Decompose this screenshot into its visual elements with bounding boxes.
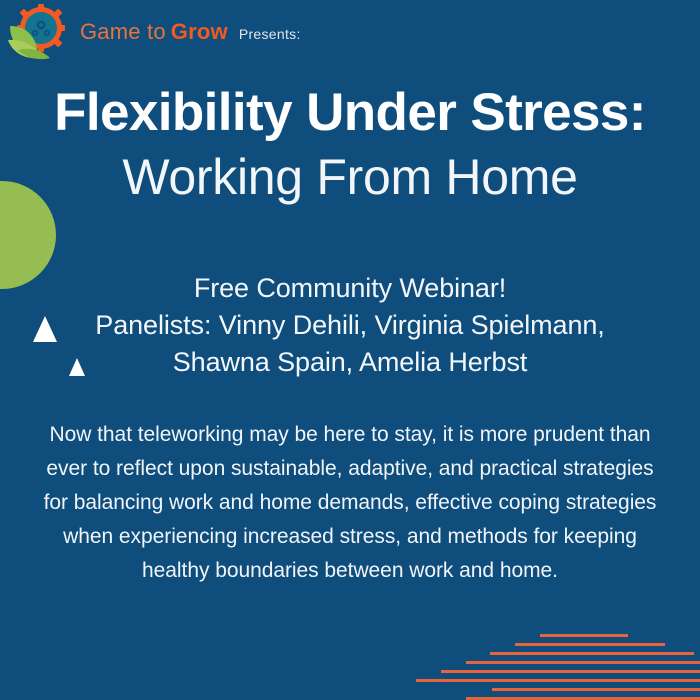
pyramid-line xyxy=(492,688,700,691)
pyramid-line xyxy=(540,634,628,637)
brand-name-part-one: Game to xyxy=(80,19,166,45)
pyramid-line xyxy=(416,679,700,682)
brand-name-part-two: Grow xyxy=(171,19,228,45)
description-paragraph: Now that teleworking may be here to stay… xyxy=(38,418,662,588)
page-title-line-1: Flexibility Under Stress: xyxy=(0,86,700,139)
orange-pyramid-decoration xyxy=(0,630,700,700)
webinar-info-block: Free Community Webinar! Panelists: Vinny… xyxy=(0,270,700,381)
pyramid-line xyxy=(441,670,700,673)
pyramid-line xyxy=(490,652,694,655)
game-to-grow-logo-icon xyxy=(8,4,76,60)
presents-label: Presents: xyxy=(239,26,301,42)
panelists-line-2: Shawna Spain, Amelia Herbst xyxy=(0,344,700,381)
pyramid-line xyxy=(515,643,665,646)
webinar-poster: Game to Grow Presents: Flexibility Under… xyxy=(0,0,700,700)
brand-header: Game to Grow Presents: xyxy=(8,4,301,60)
panelists-line-1: Panelists: Vinny Dehili, Virginia Spielm… xyxy=(0,307,700,344)
webinar-headline: Free Community Webinar! xyxy=(0,270,700,307)
page-title-line-2: Working From Home xyxy=(0,152,700,202)
brand-wordmark: Game to Grow Presents: xyxy=(80,19,301,45)
pyramid-line xyxy=(466,661,700,664)
